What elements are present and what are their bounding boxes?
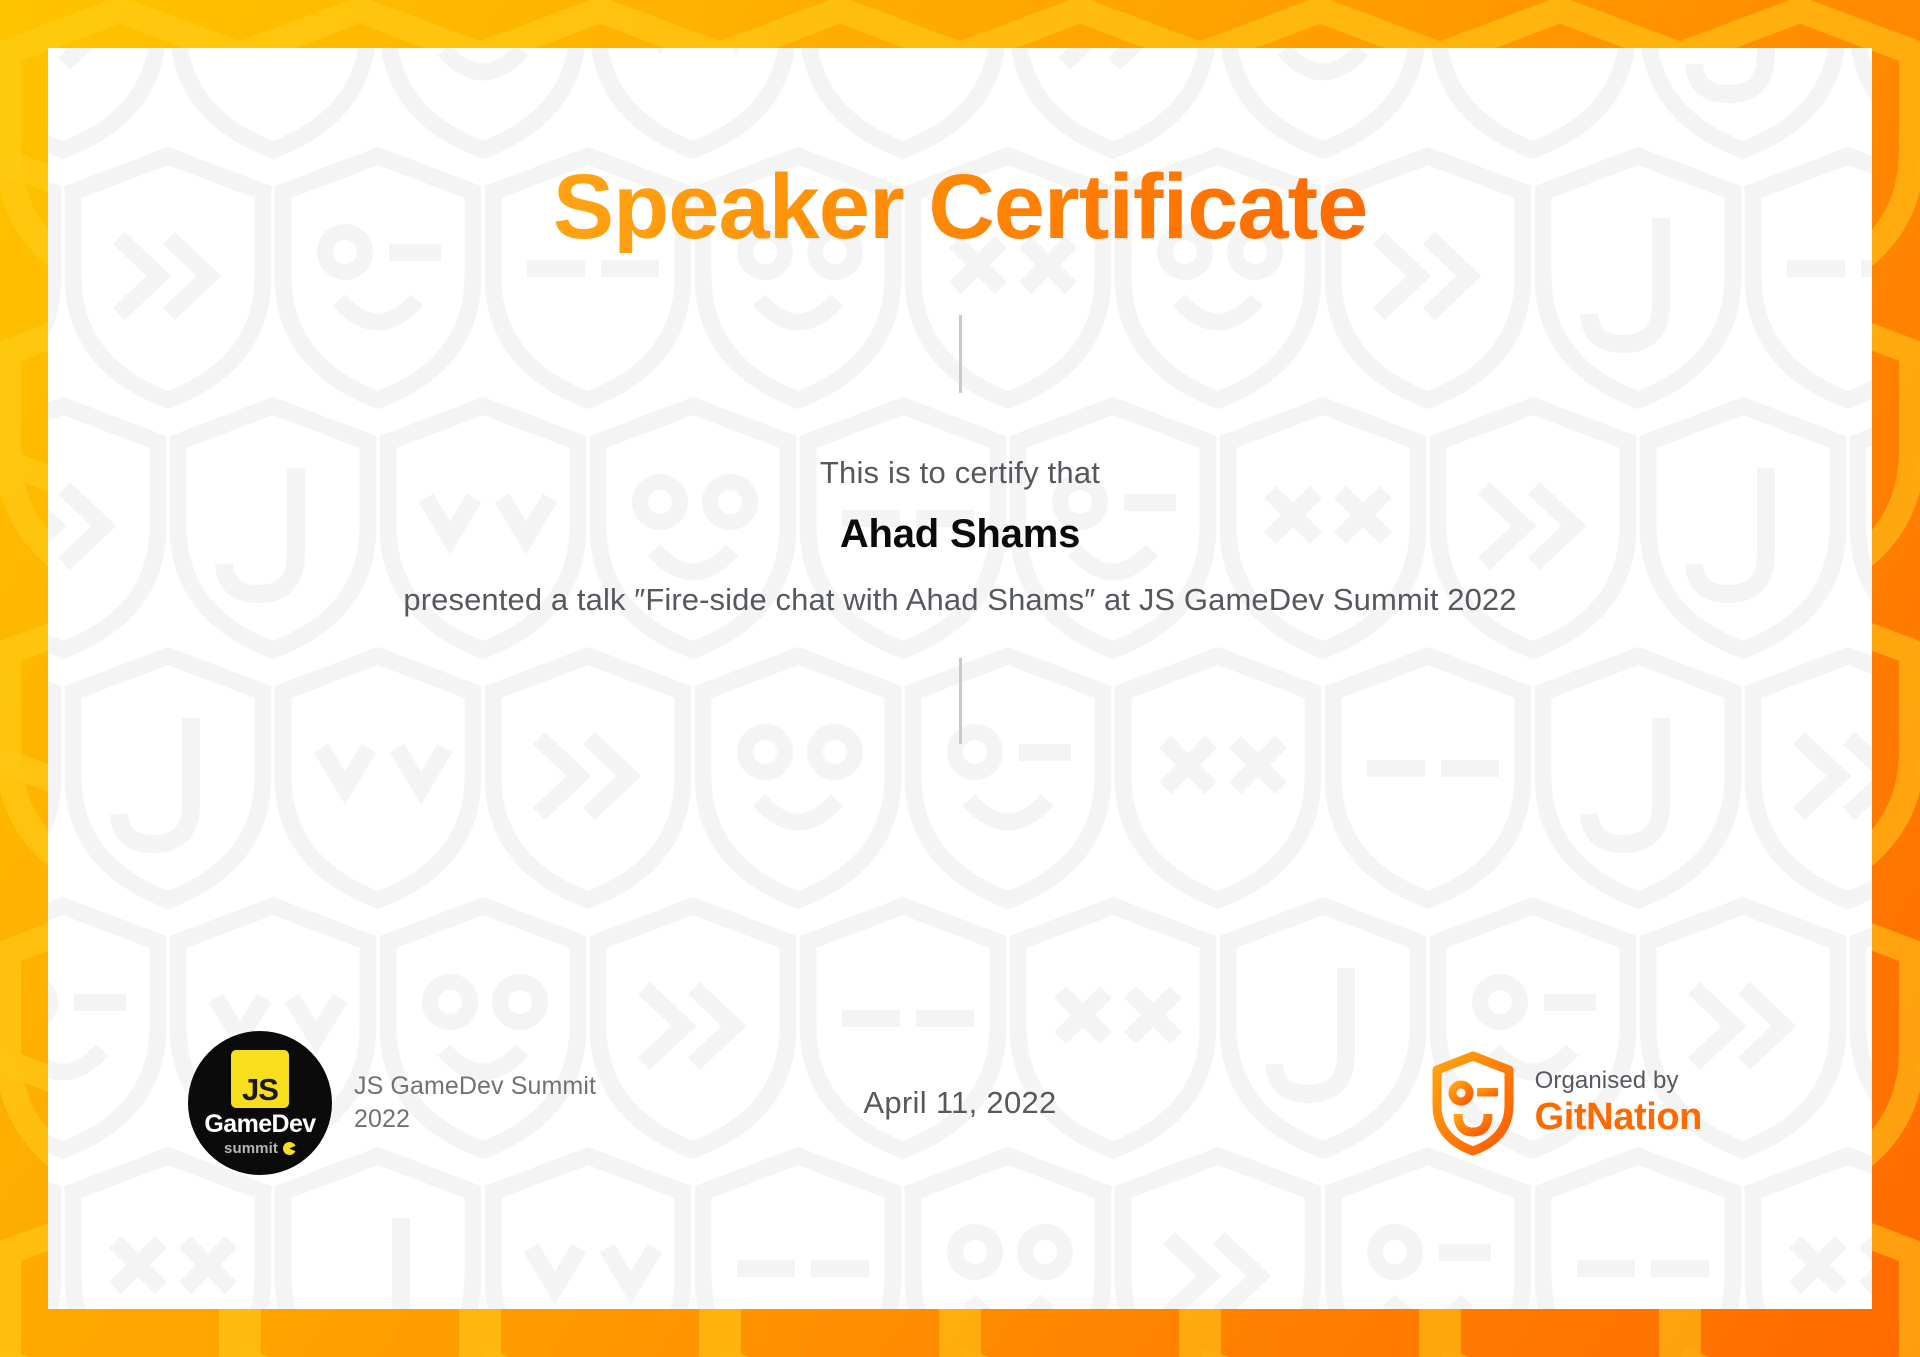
organiser-block: Organised by GitNation (1430, 1051, 1702, 1156)
certify-line: This is to certify that (820, 455, 1100, 491)
organiser-text: Organised by GitNation (1535, 1067, 1702, 1139)
organised-by-label: Organised by (1535, 1067, 1702, 1095)
certificate-footer: JS GameDev summit JS GameDev Summit 2022… (48, 1013, 1872, 1193)
page-title: Speaker Certificate (553, 161, 1368, 253)
certificate: Speaker Certificate This is to certify t… (0, 0, 1920, 1357)
gitnation-shield-mask-icon (1430, 1051, 1516, 1156)
divider-bottom (959, 658, 962, 744)
certificate-card: Speaker Certificate This is to certify t… (48, 48, 1872, 1309)
recipient-name: Ahad Shams (840, 512, 1080, 557)
badge-summit-label: summit (224, 1141, 278, 1156)
divider-top (959, 315, 962, 393)
gitnation-label: GitNation (1535, 1097, 1702, 1139)
pacman-icon (283, 1142, 296, 1155)
badge-summit-row: summit (224, 1141, 296, 1156)
talk-description: presented a talk ″Fire-side chat with Ah… (403, 582, 1516, 618)
